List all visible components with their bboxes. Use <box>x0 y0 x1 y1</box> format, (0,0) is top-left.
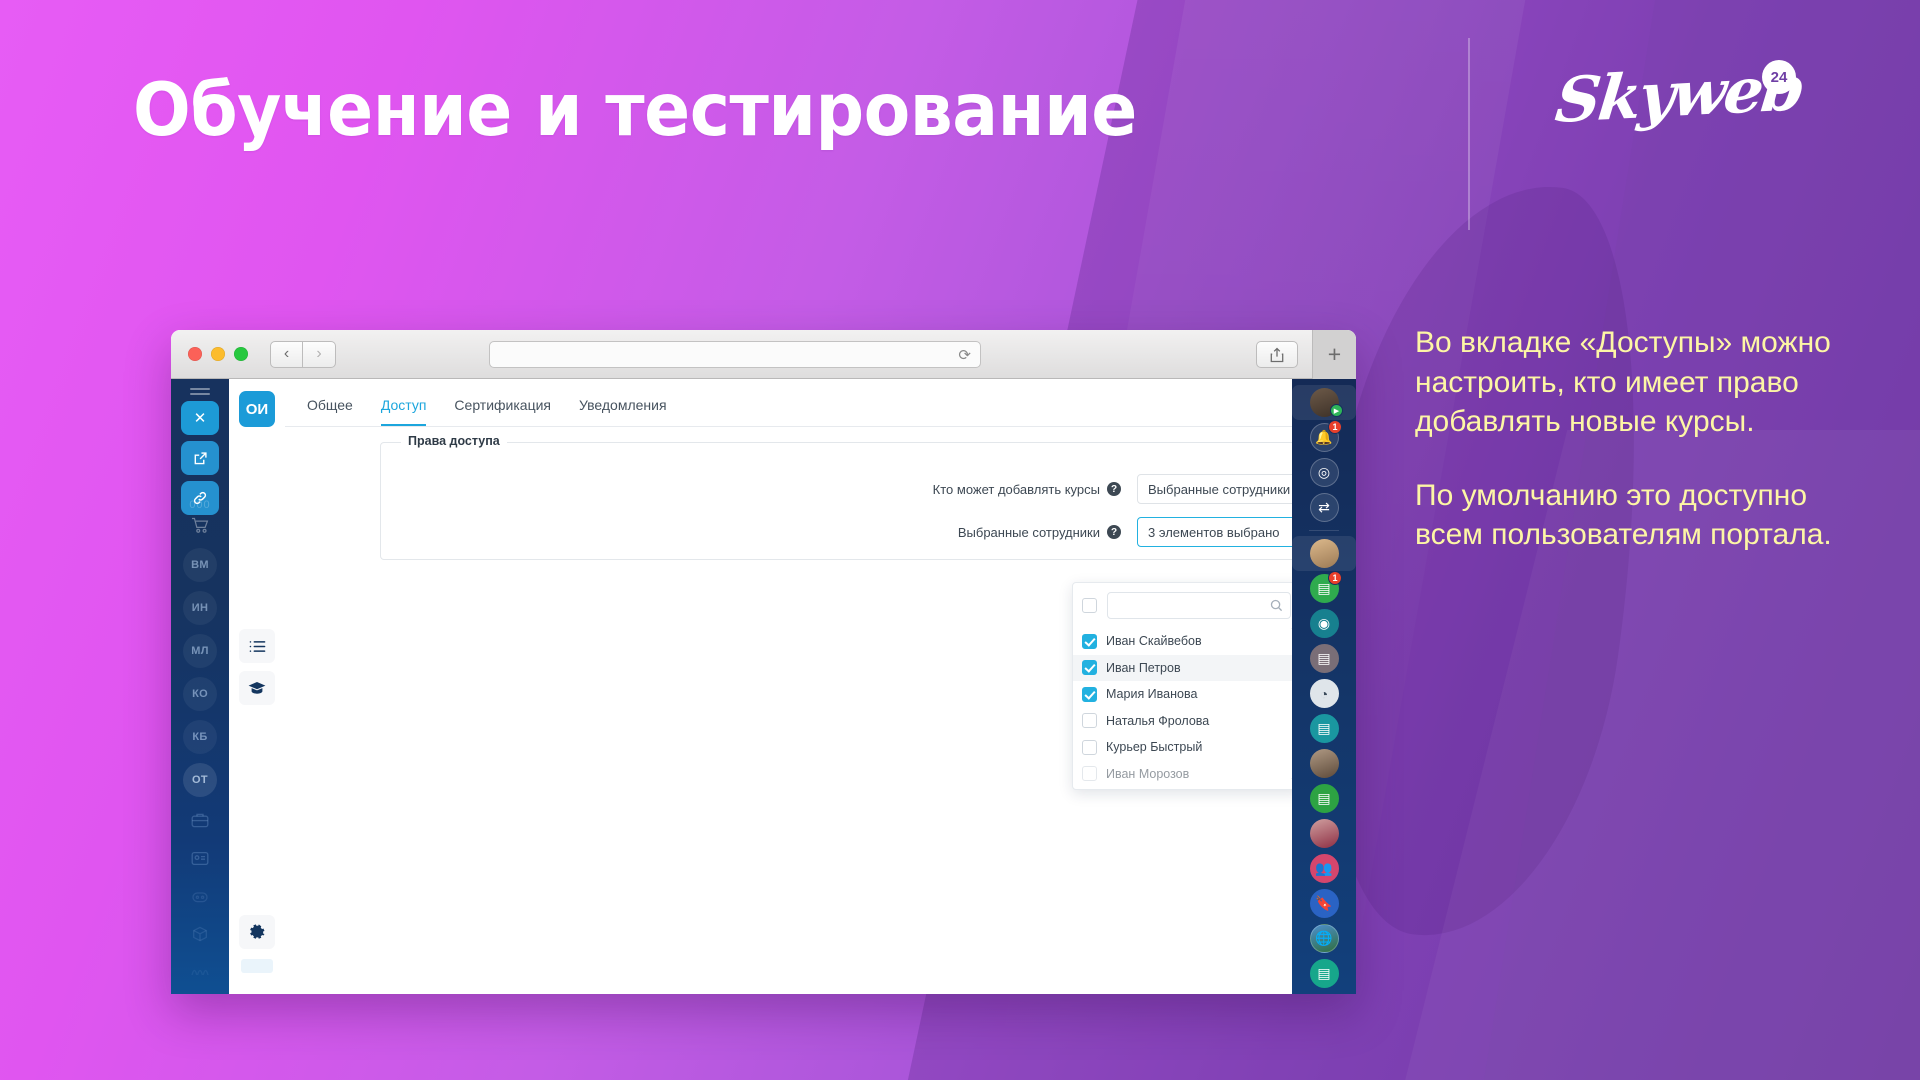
checkbox[interactable] <box>1082 766 1097 781</box>
briefcase-icon[interactable] <box>183 805 217 835</box>
browser-viewport: ✕ 000 <box>171 379 1356 994</box>
search-input[interactable] <box>1107 592 1291 619</box>
zoom-window-button[interactable] <box>234 347 248 361</box>
dropdown-item-list: Иван Скайвебов Иван Петров Мария Иванова… <box>1073 628 1301 787</box>
speedometer-icon[interactable]: ◔ <box>1292 676 1356 711</box>
menu-burger-icon[interactable] <box>190 388 210 395</box>
help-icon[interactable]: ? <box>1107 525 1121 539</box>
help-icon[interactable]: ? <box>1107 482 1121 496</box>
avatar[interactable]: ОИ <box>239 391 275 427</box>
form-row-selected-employees: Выбранные сотрудники ? 3 элементов выбра… <box>958 517 1315 547</box>
tab-dostup[interactable]: Доступ <box>381 397 427 426</box>
news-teal-icon[interactable]: ▤ <box>1292 956 1356 991</box>
rail-initial-badge[interactable]: КО <box>183 677 217 711</box>
groups-pink-icon[interactable]: 👥 <box>1292 851 1356 886</box>
app-left-rail: ✕ 000 <box>171 379 229 994</box>
minimize-window-button[interactable] <box>211 347 225 361</box>
waves-icon[interactable] <box>183 957 217 987</box>
rail-initial-badge[interactable]: МЛ <box>183 634 217 668</box>
list-item[interactable]: Курьер Быстрый <box>1073 734 1301 761</box>
checkbox[interactable] <box>1082 660 1097 675</box>
brand-logo: Skyweb 24 <box>1552 58 1812 168</box>
app-right-rail: ▶ 🔔 1 ◎ ⇄ ▤ 1 ◉ ▤ ◔ ▤ <box>1292 379 1356 994</box>
user-avatar-blonde[interactable] <box>1292 536 1356 571</box>
access-rights-fieldset: Права доступа Кто может добавлять курсы … <box>380 442 1340 560</box>
owl-chat-icon[interactable]: ◉ <box>1292 606 1356 641</box>
rail-initial-badge[interactable]: ИН <box>183 591 217 625</box>
tab-bar: Общее Доступ Сертификация Уведомления <box>285 379 1292 427</box>
field-label: Кто может добавлять курсы <box>933 482 1100 497</box>
search-icon <box>1270 599 1283 612</box>
list-icon[interactable] <box>239 629 275 663</box>
tab-obshchee[interactable]: Общее <box>307 397 353 426</box>
close-window-button[interactable] <box>188 347 202 361</box>
bookmark-blue-icon[interactable]: 🔖 <box>1292 886 1356 921</box>
slide-root: Обучение и тестирование Skyweb 24 Во вкл… <box>0 0 1920 1080</box>
online-status-icon: ▶ <box>1330 404 1343 417</box>
checkbox[interactable] <box>1082 740 1097 755</box>
chat-transfer-icon[interactable]: ⇄ <box>1292 490 1356 525</box>
selected-employees-select[interactable]: 3 элементов выбрано ⌄ <box>1137 517 1315 547</box>
user-avatar-woman[interactable] <box>1292 816 1356 851</box>
forward-button[interactable]: › <box>303 341 336 368</box>
rail-initial-badge[interactable]: ВМ <box>183 548 217 582</box>
chrome-right-actions: + <box>1256 330 1356 379</box>
gear-icon[interactable] <box>239 915 275 949</box>
share-icon[interactable] <box>1256 341 1298 368</box>
globe-icon[interactable]: 🌐 <box>1292 921 1356 956</box>
form-row-who-can-add: Кто может добавлять курсы ? Выбранные со… <box>933 474 1315 504</box>
logo-badge: 24 <box>1762 60 1796 94</box>
side-copy: Во вкладке «Доступы» можно настроить, кт… <box>1415 323 1860 555</box>
checkbox[interactable] <box>1082 713 1097 728</box>
who-can-add-courses-select[interactable]: Выбранные сотрудники ⌄ <box>1137 474 1315 504</box>
list-item[interactable]: Мария Иванова <box>1073 681 1301 708</box>
rail-counter-ghost: 000 <box>171 499 229 511</box>
side-copy-paragraph-2: По умолчанию это доступно всем пользоват… <box>1415 476 1860 555</box>
user-avatar-online[interactable]: ▶ <box>1292 385 1356 420</box>
list-item-label: Иван Морозов <box>1106 767 1189 781</box>
notifications-bell[interactable]: 🔔 1 <box>1292 420 1356 455</box>
chat-teal-icon[interactable]: ▤ <box>1292 711 1356 746</box>
box-icon[interactable] <box>183 919 217 949</box>
browser-chrome: ‹ › ⟳ + <box>171 330 1356 379</box>
fingerprint-icon[interactable]: ◎ <box>1292 455 1356 490</box>
list-item-label: Курьер Быстрый <box>1106 740 1202 754</box>
list-item[interactable]: Иван Морозов <box>1073 761 1301 788</box>
list-item-label: Иван Петров <box>1106 661 1181 675</box>
graduation-cap-icon[interactable] <box>239 671 275 705</box>
window-controls <box>188 347 248 361</box>
messenger-badge-count: 1 <box>1328 571 1342 585</box>
back-button[interactable]: ‹ <box>270 341 303 368</box>
browser-window: ‹ › ⟳ + ✕ <box>171 330 1356 994</box>
list-item[interactable]: Иван Петров <box>1073 655 1301 682</box>
checkbox[interactable] <box>1082 634 1097 649</box>
select-value: 3 элементов выбрано <box>1148 525 1279 540</box>
fieldset-legend: Права доступа <box>401 434 507 448</box>
list-item-label: Наталья Фролова <box>1106 714 1209 728</box>
robot-icon[interactable] <box>183 881 217 911</box>
page-title: Обучение и тестирование <box>133 68 1137 153</box>
messenger-green-icon[interactable]: ▤ 1 <box>1292 571 1356 606</box>
rail-separator <box>1309 530 1339 531</box>
field-label: Выбранные сотрудники <box>958 525 1100 540</box>
bell-badge-count: 1 <box>1328 420 1342 434</box>
rail-initial-badge-selected[interactable]: ОТ <box>183 763 217 797</box>
cart-icon[interactable] <box>188 517 212 539</box>
tab-uvedomleniya[interactable]: Уведомления <box>579 397 667 426</box>
main-content: Общее Доступ Сертификация Уведомления Пр… <box>285 379 1292 994</box>
list-item-label: Иван Скайвебов <box>1106 634 1202 648</box>
navigation-buttons: ‹ › <box>270 341 336 368</box>
list-item[interactable]: Наталья Фролова <box>1073 708 1301 735</box>
contacts-green-icon[interactable]: ▤ <box>1292 781 1356 816</box>
address-bar[interactable]: ⟳ <box>489 341 981 368</box>
list-item-label: Мария Иванова <box>1106 687 1197 701</box>
rail-external-link-icon[interactable] <box>181 441 219 475</box>
app-secondary-rail: ОИ <box>229 379 285 994</box>
id-card-icon[interactable] <box>183 843 217 873</box>
rail-initial-badge[interactable]: КБ <box>183 720 217 754</box>
select-all-checkbox[interactable] <box>1082 598 1097 613</box>
header-divider <box>1468 38 1470 230</box>
reload-icon[interactable]: ⟳ <box>958 346 971 364</box>
new-tab-button[interactable]: + <box>1312 330 1356 379</box>
checkbox[interactable] <box>1082 687 1097 702</box>
rail-page-placeholder <box>241 959 273 973</box>
employees-dropdown[interactable]: Иван Скайвебов Иван Петров Мария Иванова… <box>1072 582 1302 790</box>
tab-sertifikatsiya[interactable]: Сертификация <box>454 397 551 426</box>
list-item[interactable]: Иван Скайвебов <box>1073 628 1301 655</box>
side-copy-paragraph-1: Во вкладке «Доступы» можно настроить, кт… <box>1415 323 1860 442</box>
user-avatar-man[interactable] <box>1292 746 1356 781</box>
rail-close-button[interactable]: ✕ <box>181 401 219 435</box>
select-value: Выбранные сотрудники <box>1148 482 1290 497</box>
dropdown-search-row <box>1073 583 1301 628</box>
contacts-grey-icon[interactable]: ▤ <box>1292 641 1356 676</box>
